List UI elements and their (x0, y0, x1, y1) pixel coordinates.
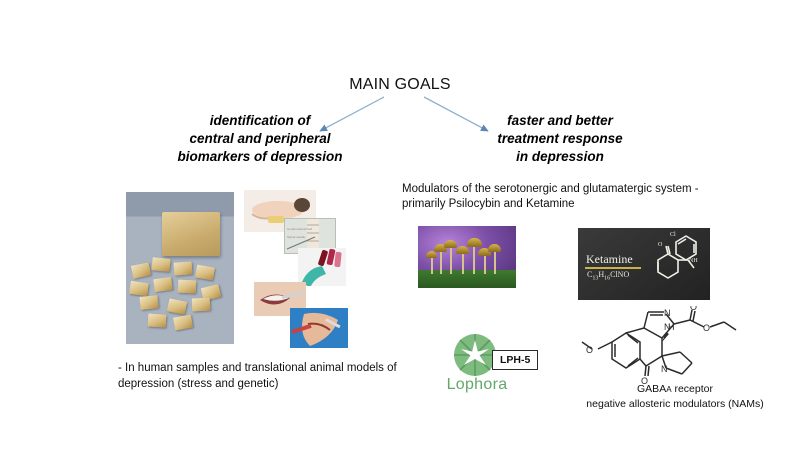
brain-blocks-photo (126, 192, 234, 344)
goal-left-line-3: biomarkers of depression (160, 148, 360, 166)
goal-left-line-2: central and peripheral (160, 130, 360, 148)
blood-tubes-image (298, 248, 346, 286)
svg-text:Cl: Cl (670, 232, 676, 238)
paper-bag (162, 212, 220, 256)
biopsy-procedure-image (290, 308, 348, 348)
modulators-description: Modulators of the serotonergic and gluta… (402, 182, 722, 212)
svg-text:Cerebrospinal fluid: Cerebrospinal fluid (287, 227, 312, 231)
svg-text:NH: NH (689, 258, 698, 264)
goal-left-line-1: identification of (160, 112, 360, 130)
goal-right-line-3: in depression (465, 148, 655, 166)
page-title: MAIN GOALS (0, 76, 800, 94)
ketamine-formula: C13H16ClNO (587, 270, 629, 282)
gaba-caption-post: receptor (672, 383, 713, 395)
svg-text:O: O (703, 323, 710, 333)
gaba-caption: GABAA receptor negative allosteric modul… (555, 382, 795, 411)
lophora-brand-name: Lophora (437, 376, 517, 394)
lph5-badge: LPH-5 (492, 350, 538, 370)
svg-text:N: N (661, 364, 668, 374)
psilocybin-mushrooms-photo (418, 226, 516, 288)
svg-text:Spinal needle: Spinal needle (287, 235, 306, 239)
medical-collage-photo: Cerebrospinal fluid Spinal needle (240, 190, 350, 350)
gaba-caption-pre: GABA (637, 383, 666, 395)
ketamine-chalkboard-image: Ketamine C13H16ClNO Cl O NH (578, 228, 710, 300)
gaba-caption-line-1: GABAA receptor (555, 382, 795, 397)
svg-text:H: H (668, 322, 675, 332)
ketamine-label: Ketamine (586, 252, 633, 267)
ketamine-underline (585, 267, 641, 269)
left-column-caption: - In human samples and translational ani… (118, 360, 398, 392)
gaba-nam-structure-icon: O O O O N N N H (578, 306, 754, 384)
svg-text:N: N (664, 308, 671, 318)
goal-right: faster and better treatment response in … (465, 112, 655, 166)
goal-right-line-1: faster and better (465, 112, 655, 130)
slide-canvas: MAIN GOALS identification of central and… (0, 0, 800, 450)
gaba-caption-line-2: negative allosteric modulators (NAMs) (555, 397, 795, 411)
svg-text:O: O (690, 306, 697, 312)
goal-left: identification of central and peripheral… (160, 112, 360, 166)
goal-right-line-2: treatment response (465, 130, 655, 148)
svg-text:O: O (658, 242, 663, 248)
ketamine-structure-icon: Cl O NH (636, 230, 708, 298)
svg-text:O: O (586, 345, 593, 355)
